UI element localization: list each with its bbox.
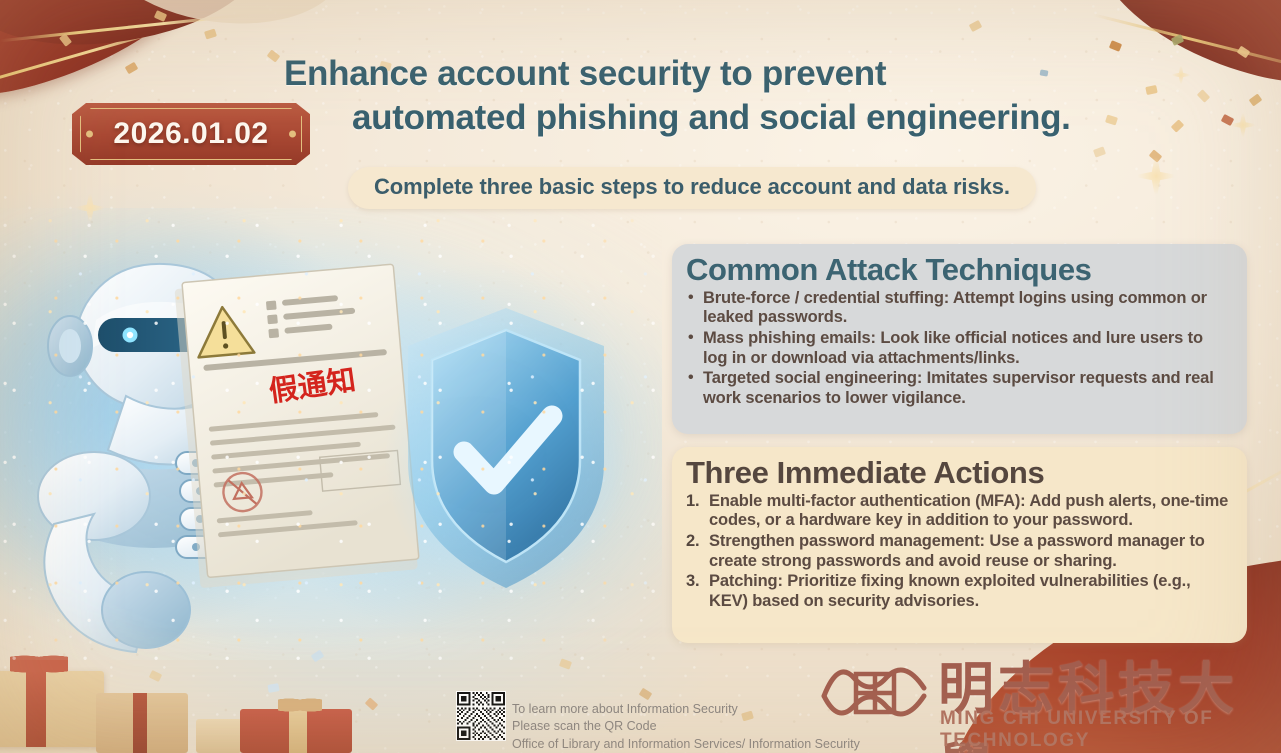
sparkle-field [0,208,662,660]
confetti-piece [969,20,982,32]
list-item-number: 2. [686,532,699,552]
date-badge: 2026.01.02 [72,103,310,165]
confetti-piece [1109,40,1122,52]
ribbon-top-left-cream [87,0,354,39]
confetti-piece [1171,34,1184,46]
list-item-number: 3. [686,572,699,592]
subtitle-banner: Complete three basic steps to reduce acc… [348,167,1036,209]
list-item: Targeted social engineering: Imitates su… [686,369,1231,408]
qr-code-icon[interactable] [456,691,506,741]
confetti-piece [365,697,379,710]
confetti-piece [1221,114,1234,126]
university-logo: 明志科技大學 MING CHI UNIVERSITY OF TECHNOLOGY [820,648,1260,744]
footer-line-3: Office of Library and Information Servic… [512,736,860,753]
list-item-text: Strengthen password management: Use a pa… [709,532,1205,570]
panel-common-attack-techniques: Common Attack Techniques Brute-force / c… [672,244,1247,434]
list-item-text: Enable multi-factor authentication (MFA)… [709,492,1228,530]
list-item-text: Patching: Prioritize fixing known exploi… [709,572,1191,610]
confetti-piece [639,688,653,701]
confetti-piece [204,28,217,39]
gift-box-red [240,709,352,753]
ming-chi-emblem-icon [820,652,932,730]
list-item: Mass phishing emails: Look like official… [686,329,1231,368]
logo-english-name: MING CHI UNIVERSITY OF TECHNOLOGY [940,708,1260,752]
confetti-piece [59,33,72,47]
confetti-piece [267,683,279,693]
gift-box-small [196,719,242,753]
attacks-heading: Common Attack Techniques [686,254,1231,287]
confetti-piece [125,62,139,74]
list-item: 3. Patching: Prioritize fixing known exp… [686,572,1231,611]
gift-box-medium [96,693,188,753]
list-item-number: 1. [686,492,699,512]
ribbon-bottom-left [0,673,154,753]
confetti-piece [559,658,572,669]
attacks-list: Brute-force / credential stuffing: Attem… [686,289,1231,409]
actions-heading: Three Immediate Actions [686,457,1231,490]
panel-three-immediate-actions: Three Immediate Actions 1. Enable multi-… [672,447,1247,643]
confetti-piece [1149,149,1163,162]
confetti-piece [1249,94,1263,107]
hero-illustration: 假通知 [0,208,662,660]
date-badge-text: 2026.01.02 [113,117,268,151]
footer-line-2: Please scan the QR Code [512,718,860,735]
security-awareness-poster: 假通知 [0,0,1281,753]
gift-box-large [0,671,104,747]
headline-line-1: Enhance account security to prevent [284,52,1214,96]
ribbon-top-left-outer [0,0,236,119]
confetti-piece [1237,46,1251,59]
footer-line-1: To learn more about Information Security [512,701,860,718]
headline-line-2: automated phishing and social engineerin… [284,96,1214,140]
badge-dot-left [86,131,93,138]
list-item: 1. Enable multi-factor authentication (M… [686,492,1231,531]
page-title: Enhance account security to prevent auto… [284,52,1214,140]
list-item: Brute-force / credential stuffing: Attem… [686,289,1231,328]
footer-info: To learn more about Information Security… [512,701,860,753]
confetti-piece [1093,146,1106,157]
sparkle-star-icon [1226,108,1260,142]
sparkle-star-icon [1130,150,1182,202]
ribbon-top-left-inner [0,0,270,57]
confetti-piece [154,10,167,22]
subtitle-text: Complete three basic steps to reduce acc… [374,174,1010,200]
confetti-piece [149,670,162,682]
confetti-piece [267,49,281,62]
list-item: 2. Strengthen password management: Use a… [686,532,1231,571]
actions-list: 1. Enable multi-factor authentication (M… [686,492,1231,612]
